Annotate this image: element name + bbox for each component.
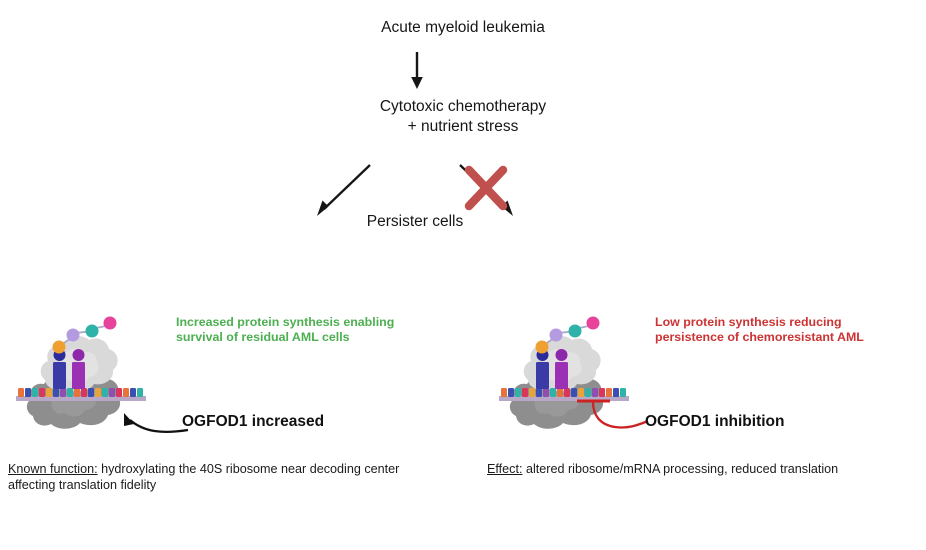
caption-right-body: altered ribosome/mRNA processing, reduce…: [522, 462, 838, 476]
caption-known-function: Known function: hydroxylating the 40S ri…: [8, 462, 428, 493]
caption-effect: Effect: altered ribosome/mRNA processing…: [487, 462, 887, 478]
pathway-figure: Acute myeloid leukemia Cytotoxic chemoth…: [0, 0, 926, 550]
flow-node-acute-myeloid-leukemia: Acute myeloid leukemia: [0, 18, 926, 38]
flow-node-cytotoxic-chemotherapy: Cytotoxic chemotherapy + nutrient stress: [0, 97, 926, 137]
callout-arrow-left-icon: [92, 398, 192, 442]
arrow-down-icon: [404, 52, 430, 90]
blocked-x-icon: [458, 160, 516, 218]
caption-right-lead: Effect:: [487, 462, 522, 476]
caption-left-lead: Known function:: [8, 462, 98, 476]
panel-left-headline: Increased protein synthesis enabling sur…: [176, 315, 394, 344]
flow-node-persister-cells: Persister cells: [295, 212, 535, 232]
callout-label-ogfod1-increased: OGFOD1 increased: [182, 413, 324, 431]
callout-label-ogfod1-inhibition: OGFOD1 inhibition: [645, 413, 785, 431]
panel-right-headline: Low protein synthesis reducing persisten…: [655, 315, 864, 344]
